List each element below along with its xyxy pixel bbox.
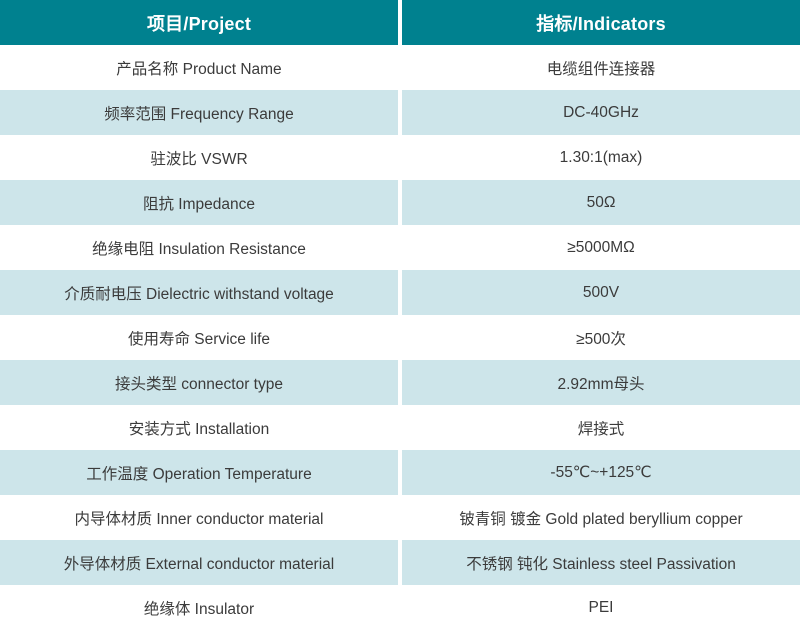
table-row: 介质耐电压 Dielectric withstand voltage500V — [0, 270, 800, 315]
specification-table: 项目/Project 指标/Indicators 产品名称 Product Na… — [0, 0, 800, 630]
table-row: 使用寿命 Service life≥500次 — [0, 315, 800, 360]
table-header: 项目/Project 指标/Indicators — [0, 0, 800, 45]
cell-project: 内导体材质 Inner conductor material — [0, 495, 400, 540]
table-header-row: 项目/Project 指标/Indicators — [0, 0, 800, 45]
cell-indicator: 1.30:1(max) — [400, 135, 800, 180]
table-row: 产品名称 Product Name电缆组件连接器 — [0, 45, 800, 90]
cell-project: 接头类型 connector type — [0, 360, 400, 405]
table-row: 阻抗 Impedance50Ω — [0, 180, 800, 225]
cell-indicator: -55℃~+125℃ — [400, 450, 800, 495]
cell-project: 介质耐电压 Dielectric withstand voltage — [0, 270, 400, 315]
table-body: 产品名称 Product Name电缆组件连接器频率范围 Frequency R… — [0, 45, 800, 630]
table-row: 绝缘电阻 Insulation Resistance≥5000MΩ — [0, 225, 800, 270]
table-row: 接头类型 connector type2.92mm母头 — [0, 360, 800, 405]
table-row: 外导体材质 External conductor material不锈钢 钝化 … — [0, 540, 800, 585]
cell-indicator: 500V — [400, 270, 800, 315]
table-row: 频率范围 Frequency RangeDC-40GHz — [0, 90, 800, 135]
table-row: 安装方式 Installation焊接式 — [0, 405, 800, 450]
cell-project: 安装方式 Installation — [0, 405, 400, 450]
cell-indicator: 不锈钢 钝化 Stainless steel Passivation — [400, 540, 800, 585]
column-header-indicators: 指标/Indicators — [400, 0, 800, 45]
cell-project: 外导体材质 External conductor material — [0, 540, 400, 585]
cell-project: 产品名称 Product Name — [0, 45, 400, 90]
cell-indicator: 50Ω — [400, 180, 800, 225]
cell-project: 频率范围 Frequency Range — [0, 90, 400, 135]
cell-project: 使用寿命 Service life — [0, 315, 400, 360]
cell-indicator: 焊接式 — [400, 405, 800, 450]
cell-project: 驻波比 VSWR — [0, 135, 400, 180]
table-row: 工作温度 Operation Temperature-55℃~+125℃ — [0, 450, 800, 495]
cell-indicator: DC-40GHz — [400, 90, 800, 135]
cell-indicator: 2.92mm母头 — [400, 360, 800, 405]
cell-project: 绝缘电阻 Insulation Resistance — [0, 225, 400, 270]
cell-indicator: ≥5000MΩ — [400, 225, 800, 270]
cell-indicator: 电缆组件连接器 — [400, 45, 800, 90]
table-row: 内导体材质 Inner conductor material铍青铜 镀金 Gol… — [0, 495, 800, 540]
column-header-project: 项目/Project — [0, 0, 400, 45]
cell-project: 工作温度 Operation Temperature — [0, 450, 400, 495]
cell-indicator: PEI — [400, 585, 800, 630]
cell-indicator: 铍青铜 镀金 Gold plated beryllium copper — [400, 495, 800, 540]
cell-project: 阻抗 Impedance — [0, 180, 400, 225]
cell-indicator: ≥500次 — [400, 315, 800, 360]
cell-project: 绝缘体 Insulator — [0, 585, 400, 630]
table-row: 驻波比 VSWR1.30:1(max) — [0, 135, 800, 180]
table-row: 绝缘体 InsulatorPEI — [0, 585, 800, 630]
